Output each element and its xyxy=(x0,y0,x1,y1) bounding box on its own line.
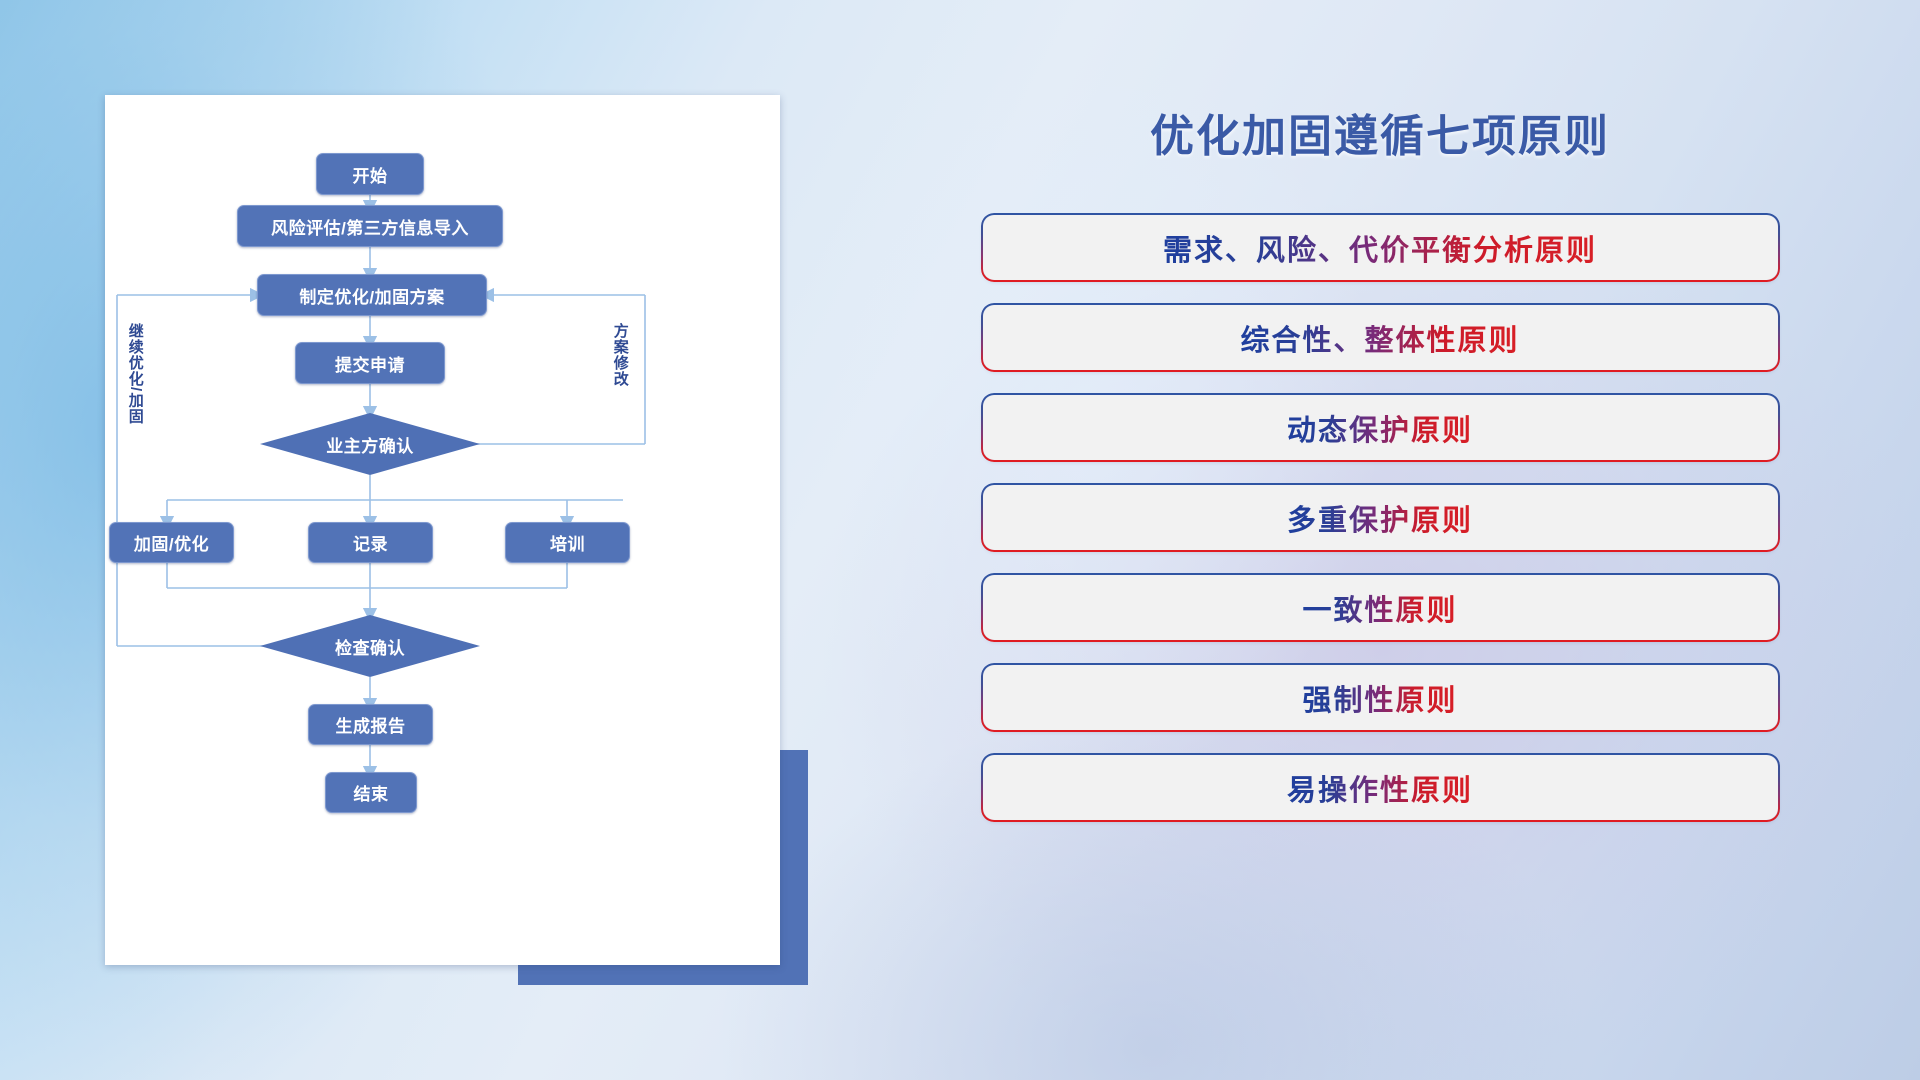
principle-item[interactable]: 易操作性原则 xyxy=(983,755,1778,820)
flow-node-label: 培训 xyxy=(550,530,585,555)
flow-edge-label-plan-revision: 方案修改 xyxy=(612,323,628,387)
flow-node-submit-application[interactable]: 提交申请 xyxy=(295,342,445,384)
principles-panel: 优化加固遵循七项原则 需求、风险、代价平衡分析原则 综合性、整体性原则 动态保护… xyxy=(840,0,1920,1080)
flow-node-label: 加固/优化 xyxy=(134,530,209,555)
principle-label: 动态保护原则 xyxy=(1287,407,1473,449)
flow-node-label: 业主方确认 xyxy=(326,432,414,457)
flow-node-label: 制定优化/加固方案 xyxy=(299,283,444,308)
flow-node-label: 结束 xyxy=(354,780,389,805)
principle-label: 多重保护原则 xyxy=(1287,497,1473,539)
flow-node-label: 记录 xyxy=(353,530,388,555)
principle-label: 一致性原则 xyxy=(1302,587,1457,629)
flow-node-make-plan[interactable]: 制定优化/加固方案 xyxy=(257,274,487,316)
flowchart-canvas: 开始 风险评估/第三方信息导入 制定优化/加固方案 提交申请 业主方确认 加固/… xyxy=(105,95,780,965)
flow-node-label: 生成报告 xyxy=(336,712,406,737)
flow-node-generate-report[interactable]: 生成报告 xyxy=(308,704,433,745)
principle-item[interactable]: 一致性原则 xyxy=(983,575,1778,640)
principle-label: 易操作性原则 xyxy=(1287,767,1473,809)
flow-decision-owner-confirm[interactable]: 业主方确认 xyxy=(260,413,480,475)
flow-node-end[interactable]: 结束 xyxy=(325,772,417,813)
flow-node-label: 开始 xyxy=(353,162,388,187)
flow-decision-check-confirm[interactable]: 检查确认 xyxy=(260,615,480,677)
flow-node-training[interactable]: 培训 xyxy=(505,522,630,563)
flow-edge-label-continue-optimize: 继续优化/加固 xyxy=(127,323,143,424)
principle-label: 需求、风险、代价平衡分析原则 xyxy=(1163,227,1597,269)
flow-node-risk-assessment[interactable]: 风险评估/第三方信息导入 xyxy=(237,205,503,247)
flow-node-label: 检查确认 xyxy=(335,634,405,659)
principle-item[interactable]: 强制性原则 xyxy=(983,665,1778,730)
flow-node-label: 风险评估/第三方信息导入 xyxy=(271,214,469,239)
flowchart-card: 开始 风险评估/第三方信息导入 制定优化/加固方案 提交申请 业主方确认 加固/… xyxy=(105,95,780,965)
flow-node-start[interactable]: 开始 xyxy=(316,153,424,195)
principle-item[interactable]: 多重保护原则 xyxy=(983,485,1778,550)
flow-node-reinforce-optimize[interactable]: 加固/优化 xyxy=(109,522,234,563)
principle-item[interactable]: 需求、风险、代价平衡分析原则 xyxy=(983,215,1778,280)
flow-node-record[interactable]: 记录 xyxy=(308,522,433,563)
principle-item[interactable]: 综合性、整体性原则 xyxy=(983,305,1778,370)
flow-node-label: 提交申请 xyxy=(335,351,405,376)
principle-label: 综合性、整体性原则 xyxy=(1240,317,1519,359)
principle-item[interactable]: 动态保护原则 xyxy=(983,395,1778,460)
principles-list: 需求、风险、代价平衡分析原则 综合性、整体性原则 动态保护原则 多重保护原则 一… xyxy=(840,215,1920,845)
principle-label: 强制性原则 xyxy=(1302,677,1457,719)
panel-title: 优化加固遵循七项原则 xyxy=(1150,100,1610,164)
